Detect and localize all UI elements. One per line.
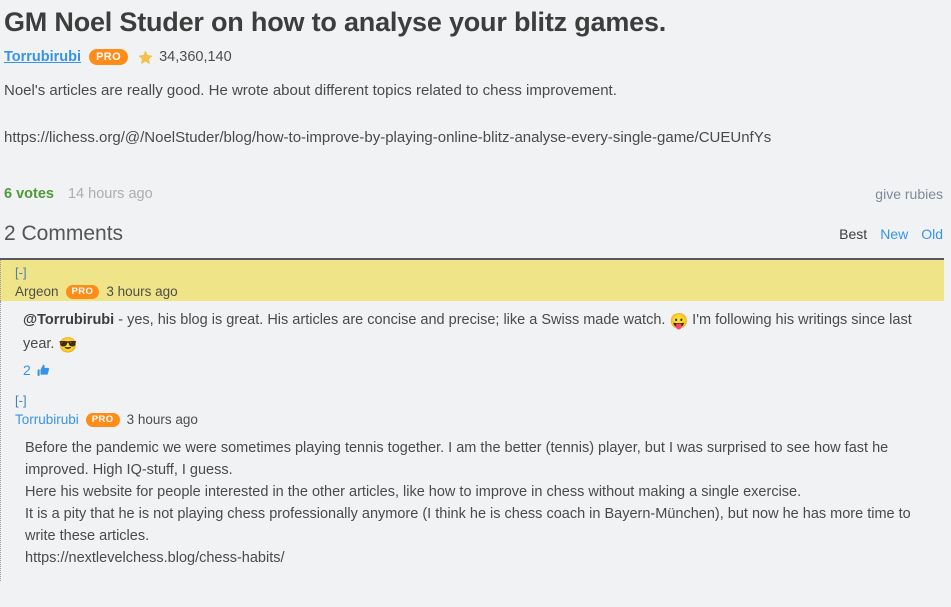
star-count: 34,360,140 bbox=[159, 49, 232, 65]
vote-count[interactable]: 6 votes bbox=[4, 186, 54, 202]
post-page: GM Noel Studer on how to analyse your bl… bbox=[0, 0, 951, 607]
collapse-toggle[interactable]: [-] bbox=[1, 260, 27, 280]
comment-list: [-] Argeon PRO 3 hours ago @Torrubirubi … bbox=[0, 258, 944, 581]
emoji-tongue-out-icon: 😛 bbox=[669, 313, 688, 330]
comment-meta: Argeon PRO 3 hours ago bbox=[1, 282, 944, 301]
star-icon bbox=[138, 50, 153, 65]
post-url[interactable]: https://lichess.org/@/NoelStuder/blog/ho… bbox=[4, 126, 951, 149]
comment-timestamp: 3 hours ago bbox=[127, 411, 198, 429]
comment-line[interactable]: https://nextlevelchess.blog/chess-habits… bbox=[25, 547, 936, 569]
post-body: Noel's articles are really good. He wrot… bbox=[0, 65, 951, 149]
comments-header: 2 Comments Best New Old bbox=[0, 202, 951, 246]
comment-meta: Torrubirubi PRO 3 hours ago bbox=[1, 410, 944, 429]
post-byline: Torrubirubi PRO 34,360,140 bbox=[0, 39, 951, 65]
thumbs-up-icon[interactable] bbox=[36, 363, 51, 378]
comment-item: [-] Argeon PRO 3 hours ago bbox=[0, 260, 944, 301]
comment-sort-options: Best New Old bbox=[839, 226, 943, 246]
like-count: 2 bbox=[23, 362, 31, 378]
comment-actions: 2 bbox=[1, 357, 944, 388]
comment-text-part1: - yes, his blog is great. His articles a… bbox=[114, 312, 669, 328]
pro-badge: PRO bbox=[89, 49, 128, 65]
comment-mention[interactable]: @Torrubirubi bbox=[23, 312, 114, 328]
page-title: GM Noel Studer on how to analyse your bl… bbox=[0, 0, 951, 39]
post-body-text: Noel's articles are really good. He wrot… bbox=[4, 79, 951, 102]
sort-best[interactable]: Best bbox=[839, 226, 867, 242]
comment-line: Before the pandemic we were sometimes pl… bbox=[25, 437, 936, 481]
comment-text: @Torrubirubi - yes, his blog is great. H… bbox=[1, 301, 944, 357]
sort-new[interactable]: New bbox=[880, 226, 908, 242]
emoji-sunglasses-icon: 😎 bbox=[58, 337, 77, 354]
comments-count: 2 Comments bbox=[4, 222, 123, 246]
post-timestamp: 14 hours ago bbox=[68, 186, 153, 202]
comment-timestamp: 3 hours ago bbox=[106, 283, 177, 301]
pro-badge: PRO bbox=[66, 285, 100, 299]
comment-line: Here his website for people interested i… bbox=[25, 481, 936, 503]
comment-author[interactable]: Argeon bbox=[15, 283, 59, 301]
comment-text: Before the pandemic we were sometimes pl… bbox=[1, 429, 944, 581]
comment-body-wrap: @Torrubirubi - yes, his blog is great. H… bbox=[0, 301, 944, 581]
sort-old[interactable]: Old bbox=[921, 226, 943, 242]
post-author-link[interactable]: Torrubirubi bbox=[4, 49, 81, 65]
post-meta-row: 6 votes 14 hours ago give rubies bbox=[0, 173, 951, 202]
give-rubies-link[interactable]: give rubies bbox=[875, 186, 943, 202]
collapse-toggle[interactable]: [-] bbox=[1, 388, 27, 408]
pro-badge: PRO bbox=[86, 413, 120, 427]
comment-author[interactable]: Torrubirubi bbox=[15, 411, 79, 429]
comment-line: It is a pity that he is not playing ches… bbox=[25, 503, 936, 547]
